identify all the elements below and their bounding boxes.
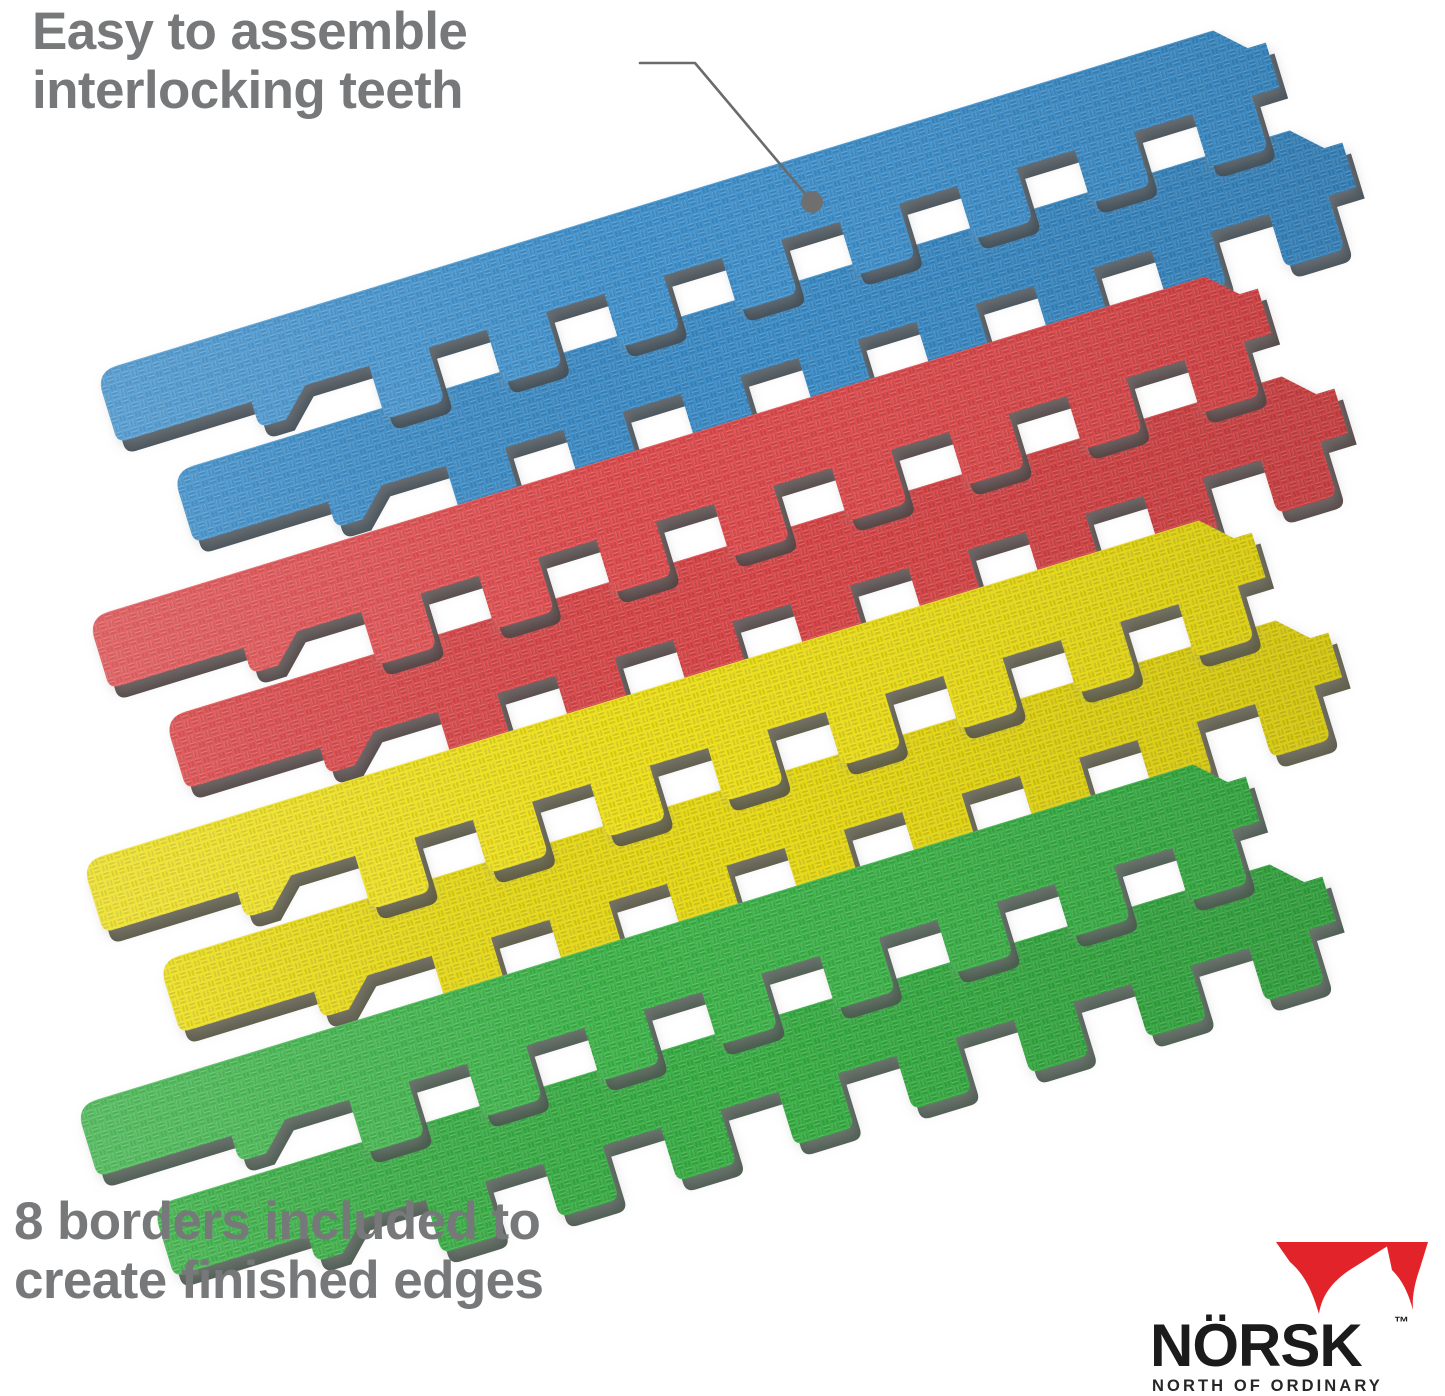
norsk-logo: NÖRSK ™ NORTH OF ORDINARY xyxy=(1098,1238,1430,1388)
callout-leader-line xyxy=(640,63,812,202)
logo-wordmark: NÖRSK xyxy=(1150,1316,1362,1376)
interlocking-teeth-callout xyxy=(600,30,900,260)
callout-target-dot xyxy=(801,191,823,213)
logo-tagline: NORTH OF ORDINARY xyxy=(1152,1377,1383,1396)
caption-interlocking-teeth: Easy to assemble interlocking teeth xyxy=(32,2,467,121)
product-feature-graphic: Easy to assemble interlocking teeth 8 bo… xyxy=(0,0,1445,1395)
logo-trademark-symbol: ™ xyxy=(1394,1314,1409,1331)
caption-borders-included: 8 borders included to create finished ed… xyxy=(14,1192,543,1311)
norsk-chevron-mark xyxy=(1098,1238,1430,1318)
